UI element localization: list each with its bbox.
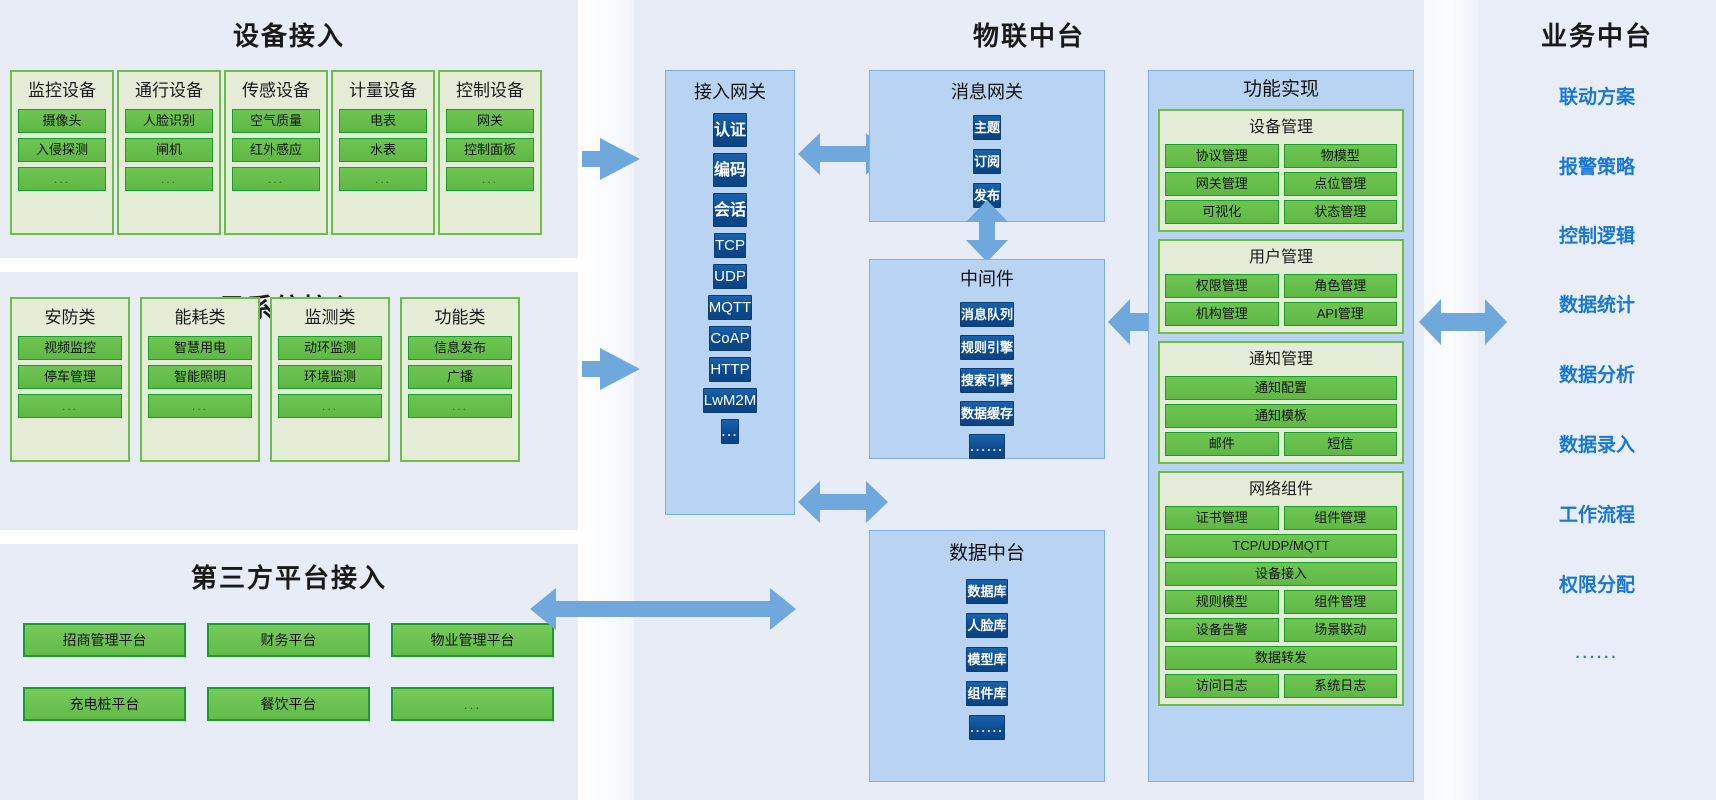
fn-item[interactable]: 证书管理: [1165, 506, 1279, 530]
fn-item[interactable]: 访问日志: [1165, 674, 1279, 698]
third-party-button-finance[interactable]: 财务平台: [207, 623, 370, 657]
block-row: 可视化 状态管理: [1165, 200, 1397, 224]
middleware-panel: 中间件 消息队列 规则引擎 搜索引擎 数据缓存 ......: [869, 259, 1105, 459]
subsystem-card-security[interactable]: 安防类 视频监控 停车管理 ...: [10, 297, 130, 462]
card-item[interactable]: 广播: [408, 365, 512, 389]
message-item-subscribe[interactable]: 订阅: [973, 149, 1001, 174]
business-item-control-logic[interactable]: 控制逻辑: [1478, 221, 1716, 248]
fn-item[interactable]: 机构管理: [1165, 302, 1279, 326]
card-title: 能耗类: [148, 305, 252, 331]
fn-item[interactable]: API管理: [1284, 302, 1398, 326]
card-item[interactable]: 水表: [339, 138, 427, 162]
card-item[interactable]: 空气质量: [232, 109, 320, 133]
fn-item[interactable]: 设备告警: [1165, 618, 1279, 642]
business-item-data-analysis[interactable]: 数据分析: [1478, 360, 1716, 387]
gateway-item-udp[interactable]: UDP: [713, 264, 747, 289]
arrow-message-to-middleware: [964, 200, 1010, 262]
card-item[interactable]: 智能照明: [148, 365, 252, 389]
fn-item[interactable]: 通知模板: [1165, 404, 1397, 428]
block-title: 设备管理: [1165, 116, 1397, 140]
data-item-face-db[interactable]: 人脸库: [966, 613, 1007, 638]
third-party-button-leasing[interactable]: 招商管理平台: [23, 623, 186, 657]
data-item-model-db[interactable]: 模型库: [966, 647, 1007, 672]
card-title: 控制设备: [446, 78, 534, 104]
data-platform-panel: 数据中台 数据库 人脸库 模型库 组件库 ......: [869, 530, 1105, 782]
block-row: 数据转发: [1165, 646, 1397, 670]
third-party-button-catering[interactable]: 餐饮平台: [207, 687, 370, 721]
card-title: 监测类: [278, 305, 382, 331]
block-row: 证书管理 组件管理: [1165, 506, 1397, 530]
device-card-sensors[interactable]: 传感设备 空气质量 红外感应 ...: [224, 70, 328, 235]
fn-item[interactable]: 协议管理: [1165, 144, 1279, 168]
middleware-item-data-cache[interactable]: 数据缓存: [960, 401, 1014, 426]
subsystem-card-monitoring[interactable]: 监测类 动环监测 环境监测 ...: [270, 297, 390, 462]
card-item[interactable]: 摄像头: [18, 109, 106, 133]
block-row: 机构管理 API管理: [1165, 302, 1397, 326]
device-card-control[interactable]: 控制设备 网关 控制面板 ...: [438, 70, 542, 235]
fn-item[interactable]: 短信: [1284, 432, 1398, 456]
data-item-more[interactable]: ......: [969, 715, 1005, 740]
card-item[interactable]: 入侵探测: [18, 138, 106, 162]
gateway-item-http[interactable]: HTTP: [709, 357, 750, 382]
card-title: 传感设备: [232, 78, 320, 104]
fn-item[interactable]: 状态管理: [1284, 200, 1398, 224]
block-row: 规则模型 组件管理: [1165, 590, 1397, 614]
function-block-user-management[interactable]: 用户管理 权限管理 角色管理 机构管理 API管理: [1158, 239, 1404, 334]
right-gap-background: [1424, 0, 1478, 800]
fn-item[interactable]: 点位管理: [1284, 172, 1398, 196]
function-block-device-management[interactable]: 设备管理 协议管理 物模型 网关管理 点位管理 可视化 状态管理: [1158, 109, 1404, 232]
fn-item[interactable]: 物模型: [1284, 144, 1398, 168]
card-item[interactable]: 停车管理: [18, 365, 122, 389]
block-row: 设备告警 场景联动: [1165, 618, 1397, 642]
fn-item[interactable]: 系统日志: [1284, 674, 1398, 698]
iot-platform-title: 物联中台: [634, 16, 1424, 53]
fn-item[interactable]: 数据转发: [1165, 646, 1397, 670]
block-row: TCP/UDP/MQTT: [1165, 534, 1397, 558]
architecture-diagram: 设备接入 子系统接入 第三方平台接入 物联中台 业务中台 监控设备 摄像头 入侵…: [0, 0, 1716, 800]
middleware-item-search-engine[interactable]: 搜索引擎: [960, 368, 1014, 393]
middleware-item-rule-engine[interactable]: 规则引擎: [960, 335, 1014, 360]
business-item-permission[interactable]: 权限分配: [1478, 570, 1716, 597]
fn-item[interactable]: 角色管理: [1284, 274, 1398, 298]
gateway-item-auth[interactable]: 认证: [713, 113, 747, 147]
fn-item[interactable]: 网关管理: [1165, 172, 1279, 196]
fn-item[interactable]: 邮件: [1165, 432, 1279, 456]
device-card-metering[interactable]: 计量设备 电表 水表 ...: [331, 70, 435, 235]
business-item-data-entry[interactable]: 数据录入: [1478, 430, 1716, 457]
card-item-more[interactable]: ...: [18, 394, 122, 418]
data-item-database[interactable]: 数据库: [966, 579, 1007, 604]
card-item-more[interactable]: ...: [408, 394, 512, 418]
business-item-more[interactable]: ......: [1478, 645, 1716, 662]
card-item-more[interactable]: ...: [278, 394, 382, 418]
arrow-device-to-gateway: [582, 135, 640, 183]
card-item-more[interactable]: ...: [232, 167, 320, 191]
card-item[interactable]: 环境监测: [278, 365, 382, 389]
fn-item[interactable]: 场景联动: [1284, 618, 1398, 642]
left-gap-background: [578, 0, 634, 800]
card-item[interactable]: 人脸识别: [125, 109, 213, 133]
third-party-button-more[interactable]: ...: [391, 687, 554, 721]
function-impl-panel: 功能实现 设备管理 协议管理 物模型 网关管理 点位管理 可视化 状态管理 用户…: [1148, 70, 1414, 782]
block-row: 协议管理 物模型: [1165, 144, 1397, 168]
card-item[interactable]: 网关: [446, 109, 534, 133]
block-row: 通知模板: [1165, 404, 1397, 428]
fn-item[interactable]: 组件管理: [1284, 506, 1398, 530]
device-card-monitoring[interactable]: 监控设备 摄像头 入侵探测 ...: [10, 70, 114, 235]
card-title: 监控设备: [18, 78, 106, 104]
block-title: 用户管理: [1165, 246, 1397, 270]
card-item[interactable]: 动环监测: [278, 336, 382, 360]
data-platform-title: 数据中台: [870, 537, 1104, 571]
gateway-item-encode[interactable]: 编码: [713, 153, 747, 187]
card-item[interactable]: 控制面板: [446, 138, 534, 162]
fn-item[interactable]: 通知配置: [1165, 376, 1397, 400]
card-item[interactable]: 电表: [339, 109, 427, 133]
card-item-more[interactable]: ...: [446, 167, 534, 191]
card-title: 功能类: [408, 305, 512, 331]
access-gateway-panel: 接入网关 认证 编码 会话 TCP UDP MQTT CoAP HTTP LwM…: [665, 70, 795, 515]
business-platform-background: [1478, 0, 1716, 800]
block-row: 网关管理 点位管理: [1165, 172, 1397, 196]
gateway-item-more[interactable]: ...: [721, 419, 740, 444]
business-platform-title: 业务中台: [1478, 16, 1716, 53]
fn-item[interactable]: 可视化: [1165, 200, 1279, 224]
block-row: 邮件 短信: [1165, 432, 1397, 456]
business-item-alarm-policy[interactable]: 报警策略: [1478, 152, 1716, 179]
business-item-linkage-plan[interactable]: 联动方案: [1478, 82, 1716, 109]
card-item[interactable]: 视频监控: [18, 336, 122, 360]
access-gateway-title: 接入网关: [666, 75, 794, 109]
card-item[interactable]: 智慧用电: [148, 336, 252, 360]
gateway-item-tcp[interactable]: TCP: [714, 233, 746, 258]
block-title: 网络组件: [1165, 478, 1397, 502]
card-item[interactable]: 闸机: [125, 138, 213, 162]
card-title: 计量设备: [339, 78, 427, 104]
device-card-access-control[interactable]: 通行设备 人脸识别 闸机 ...: [117, 70, 221, 235]
middleware-item-more[interactable]: ......: [969, 434, 1005, 459]
card-item-more[interactable]: ...: [339, 167, 427, 191]
fn-item[interactable]: 权限管理: [1165, 274, 1279, 298]
function-block-notification-management[interactable]: 通知管理 通知配置 通知模板 邮件 短信: [1158, 341, 1404, 464]
function-block-network-components[interactable]: 网络组件 证书管理 组件管理 TCP/UDP/MQTT 设备接入 规则模型 组件…: [1158, 471, 1404, 706]
block-row: 权限管理 角色管理: [1165, 274, 1397, 298]
block-row: 通知配置: [1165, 376, 1397, 400]
card-item[interactable]: 信息发布: [408, 336, 512, 360]
middleware-item-message-queue[interactable]: 消息队列: [960, 302, 1014, 327]
subsystem-card-function[interactable]: 功能类 信息发布 广播 ...: [400, 297, 520, 462]
fn-item[interactable]: TCP/UDP/MQTT: [1165, 534, 1397, 558]
business-item-data-stats[interactable]: 数据统计: [1478, 290, 1716, 317]
third-party-button-charging[interactable]: 充电桩平台: [23, 687, 186, 721]
arrow-third-party-to-data-platform: [530, 585, 796, 633]
fn-item[interactable]: 规则模型: [1165, 590, 1279, 614]
card-item[interactable]: 红外感应: [232, 138, 320, 162]
message-gateway-title: 消息网关: [870, 75, 1104, 109]
gateway-item-lwm2m[interactable]: LwM2M: [703, 388, 758, 413]
card-item-more[interactable]: ...: [18, 167, 106, 191]
message-item-topic[interactable]: 主题: [973, 115, 1001, 140]
business-item-workflow[interactable]: 工作流程: [1478, 500, 1716, 527]
fn-item[interactable]: 组件管理: [1284, 590, 1398, 614]
data-item-component-db[interactable]: 组件库: [966, 681, 1007, 706]
device-access-title: 设备接入: [0, 16, 578, 53]
block-row: 设备接入: [1165, 562, 1397, 586]
subsystem-card-energy[interactable]: 能耗类 智慧用电 智能照明 ...: [140, 297, 260, 462]
gateway-item-mqtt[interactable]: MQTT: [708, 295, 753, 320]
card-title: 通行设备: [125, 78, 213, 104]
third-party-title: 第三方平台接入: [0, 558, 578, 595]
arrow-gateway-to-data-platform: [798, 478, 888, 526]
card-item-more[interactable]: ...: [148, 394, 252, 418]
block-row: 访问日志 系统日志: [1165, 674, 1397, 698]
fn-item[interactable]: 设备接入: [1165, 562, 1397, 586]
gateway-item-session[interactable]: 会话: [713, 193, 747, 227]
gateway-item-coap[interactable]: CoAP: [709, 326, 750, 351]
block-title: 通知管理: [1165, 348, 1397, 372]
arrow-subsystem-to-gateway: [582, 345, 640, 393]
card-item-more[interactable]: ...: [125, 167, 213, 191]
card-title: 安防类: [18, 305, 122, 331]
middleware-title: 中间件: [870, 262, 1104, 296]
function-impl-title: 功能实现: [1158, 73, 1404, 107]
